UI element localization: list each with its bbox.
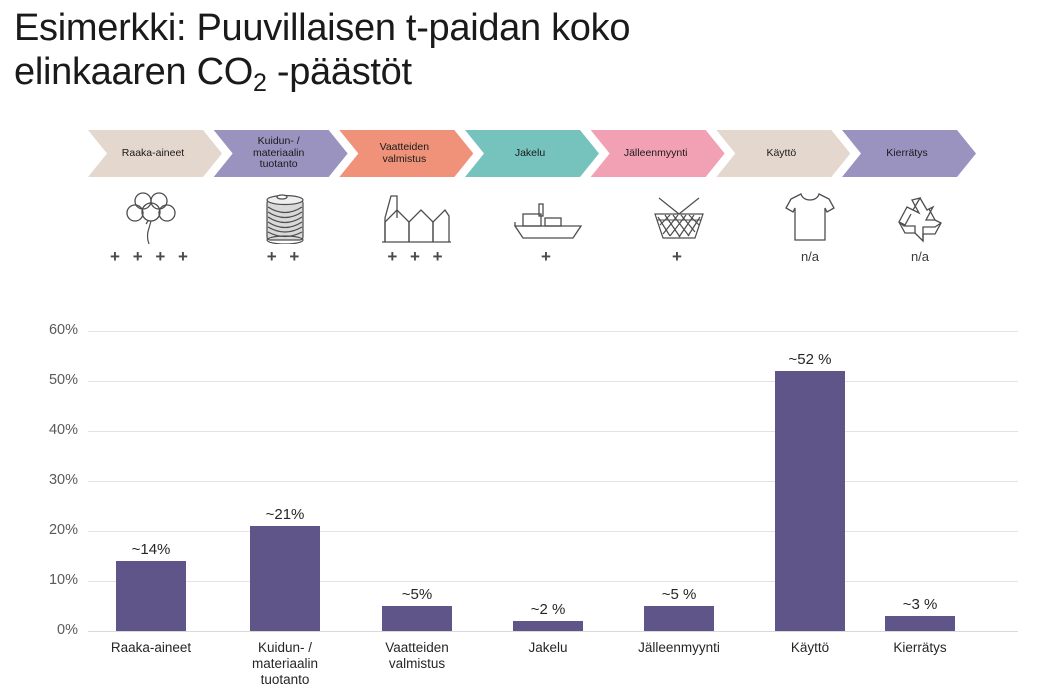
stage-impact-rating: + <box>541 248 555 266</box>
bar-5[interactable] <box>644 606 714 631</box>
bar-4[interactable] <box>513 621 583 631</box>
stage-icon-cell-4: + <box>488 186 608 282</box>
bar-value-label: ~3 % <box>860 596 980 613</box>
stage-impact-rating: + + + + <box>110 248 192 266</box>
chevron-stage-6[interactable]: Käyttö <box>716 130 850 177</box>
stage-icon-cell-1: + + + + <box>91 186 211 282</box>
chevron-stage-label: Jälleenmyynti <box>601 148 711 160</box>
bar-value-label: ~2 % <box>488 601 608 618</box>
gridline-20% <box>88 531 1018 532</box>
gridline-30% <box>88 481 1018 482</box>
chevron-stage-label: Kuidun- /materiaalintuotanto <box>224 136 334 171</box>
chevron-stage-5[interactable]: Jälleenmyynti <box>591 130 725 177</box>
stage-impact-rating: + <box>672 248 686 266</box>
x-axis-category-label: Vaatteidenvalmistus <box>352 640 482 672</box>
y-axis-tick-label: 30% <box>16 472 78 488</box>
bar-value-label: ~5 % <box>619 586 739 603</box>
chevron-stage-4[interactable]: Jakelu <box>465 130 599 177</box>
bar-value-label: ~14% <box>91 541 211 558</box>
chevron-stage-label: Jakelu <box>475 148 585 160</box>
chevron-stage-1[interactable]: Raaka-aineet <box>88 130 222 177</box>
bar-6[interactable] <box>775 371 845 631</box>
stage-icon-cell-5: + <box>619 186 739 282</box>
cotton-boll-icon <box>126 186 176 244</box>
stage-icon-cell-2: + + <box>225 186 345 282</box>
tshirt-icon <box>782 186 838 244</box>
y-axis-tick-label: 20% <box>16 522 78 538</box>
y-axis-tick-label: 0% <box>16 622 78 638</box>
stage-icon-row: + + + + + + + + + + + <box>88 186 976 282</box>
co2-emissions-bar-chart: ~14%~21%~5%~2 %~5 %~52 %~3 % 0%10%20%30%… <box>0 300 1043 698</box>
gridline-10% <box>88 581 1018 582</box>
chevron-stage-label: Käyttö <box>726 148 836 160</box>
factory-icon <box>380 186 454 244</box>
x-axis-category-label: Raaka-aineet <box>86 640 216 656</box>
bar-1[interactable] <box>116 561 186 631</box>
bar-value-label: ~52 % <box>750 351 870 368</box>
page-title: Esimerkki: Puuvillaisen t-paidan koko el… <box>14 6 1014 98</box>
gridline-60% <box>88 331 1018 332</box>
shopping-basket-icon <box>649 186 709 244</box>
title-line-2-after: -päästöt <box>267 51 412 93</box>
title-subscript: 2 <box>253 69 267 97</box>
bar-7[interactable] <box>885 616 955 631</box>
x-axis-category-label: Kierrätys <box>855 640 985 656</box>
x-axis-category-label: Jälleenmyynti <box>614 640 744 656</box>
chevron-stage-label: Raaka-aineet <box>98 148 208 160</box>
bar-value-label: ~5% <box>357 586 477 603</box>
stage-icon-cell-7: n/a <box>860 186 980 282</box>
y-axis-tick-label: 50% <box>16 372 78 388</box>
thread-spool-icon <box>261 186 309 244</box>
x-axis-category-label: Kuidun- /materiaalintuotanto <box>220 640 350 688</box>
bar-2[interactable] <box>250 526 320 631</box>
title-line-1: Esimerkki: Puuvillaisen t-paidan koko <box>14 7 630 49</box>
gridline-40% <box>88 431 1018 432</box>
x-axis-category-label: Jakelu <box>483 640 613 656</box>
stage-impact-rating: n/a <box>801 248 819 266</box>
chevron-stage-label: Vaatteidenvalmistus <box>349 142 459 165</box>
bar-value-label: ~21% <box>225 506 345 523</box>
stage-impact-rating: + + <box>267 248 304 266</box>
y-axis-tick-label: 10% <box>16 572 78 588</box>
chevron-stage-2[interactable]: Kuidun- /materiaalintuotanto <box>214 130 348 177</box>
title-line-2-before: elinkaaren CO <box>14 51 253 93</box>
y-axis-tick-label: 40% <box>16 422 78 438</box>
bar-3[interactable] <box>382 606 452 631</box>
x-axis-baseline <box>88 631 1018 632</box>
chart-plot-area: ~14%~21%~5%~2 %~5 %~52 %~3 % <box>88 331 1018 631</box>
recycling-icon <box>893 186 947 244</box>
gridline-50% <box>88 381 1018 382</box>
cargo-ship-icon <box>511 186 585 244</box>
stage-impact-rating: n/a <box>911 248 929 266</box>
stage-icon-cell-3: + + + <box>357 186 477 282</box>
stage-impact-rating: + + + <box>387 248 446 266</box>
chevron-stage-3[interactable]: Vaatteidenvalmistus <box>339 130 473 177</box>
stage-icon-cell-6: n/a <box>750 186 870 282</box>
chevron-stage-label: Kierrätys <box>852 148 962 160</box>
y-axis-tick-label: 60% <box>16 322 78 338</box>
chevron-stage-7[interactable]: Kierrätys <box>842 130 976 177</box>
lifecycle-stage-chevron-band: Raaka-aineetKuidun- /materiaalintuotanto… <box>88 130 976 177</box>
